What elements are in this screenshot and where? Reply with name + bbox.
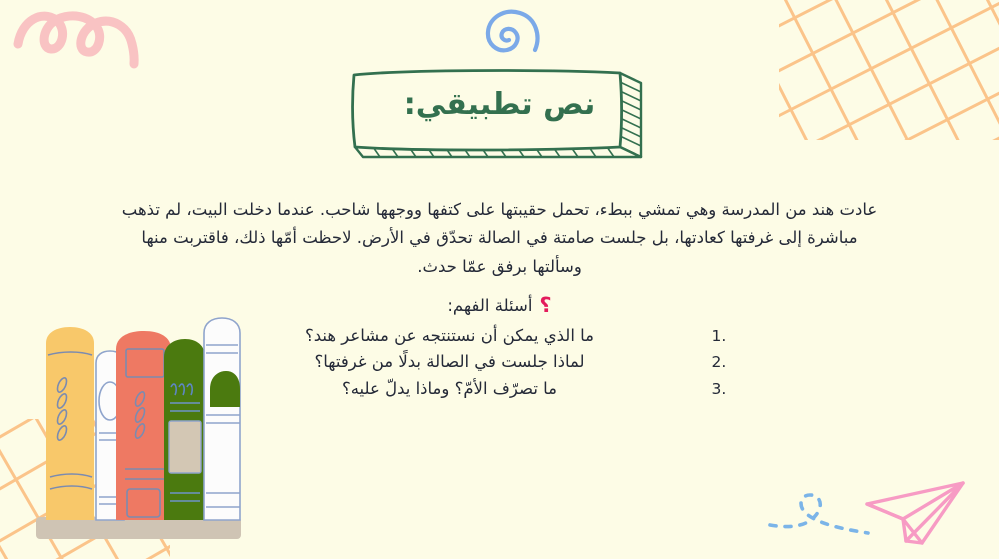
question-number: 2. (700, 350, 850, 375)
questions-heading-label: أسئلة الفهم: (447, 296, 532, 315)
questions-list: 1. ما الذي يمكن أن نستنتجه عن مشاعر هند؟… (150, 323, 850, 403)
content-area: عادت هند من المدرسة وهي تمشي ببطء، تحمل … (0, 196, 999, 403)
list-item: 3. ما تصرّف الأمّ؟ وماذا يدلّ عليه؟ (150, 376, 850, 403)
question-number: 1. (700, 324, 850, 349)
title-banner: نص تطبيقي: (0, 62, 999, 172)
passage-text: عادت هند من المدرسة وهي تمشي ببطء، تحمل … (120, 196, 880, 281)
questions-heading: ؟أسئلة الفهم: (120, 291, 880, 320)
question-number: 3. (700, 377, 850, 402)
question-text: لماذا جلست في الصالة بدلًا من غرفتها؟ (150, 349, 700, 376)
paper-plane-decoration (764, 463, 989, 555)
list-item: 1. ما الذي يمكن أن نستنتجه عن مشاعر هند؟ (150, 323, 850, 350)
question-mark-icon: ؟ (539, 293, 551, 317)
question-text: ما الذي يمكن أن نستنتجه عن مشاعر هند؟ (150, 323, 700, 350)
title-box-frame: نص تطبيقي: (339, 65, 661, 169)
question-text: ما تصرّف الأمّ؟ وماذا يدلّ عليه؟ (150, 376, 700, 403)
blue-spiral-decoration (478, 4, 548, 64)
slide-canvas: نص تطبيقي: عادت هند من المدرسة وهي تمشي … (0, 0, 999, 559)
list-item: 2. لماذا جلست في الصالة بدلًا من غرفتها؟ (150, 349, 850, 376)
page-title: نص تطبيقي: (339, 85, 661, 124)
